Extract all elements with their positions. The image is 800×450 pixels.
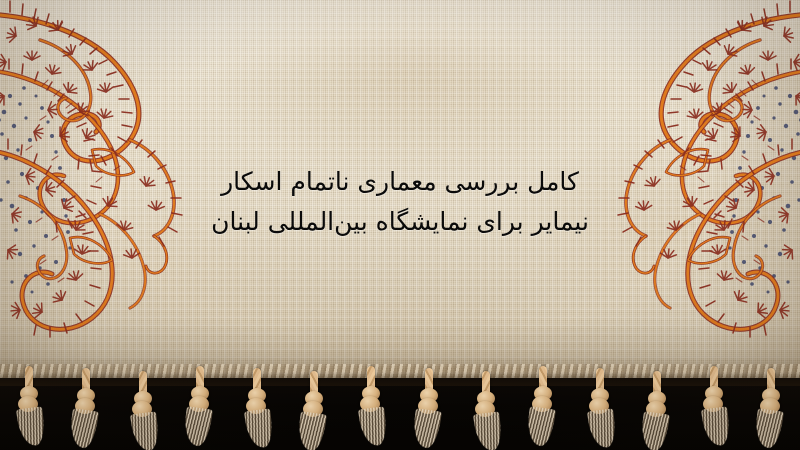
tassel xyxy=(530,366,556,446)
tassel xyxy=(130,371,156,450)
tassel-skirt xyxy=(473,411,503,450)
tassel-skirt xyxy=(587,408,617,449)
tassel-skirt xyxy=(16,406,46,447)
tassel xyxy=(244,368,270,448)
tassel-skirt xyxy=(130,411,160,450)
tassel xyxy=(358,366,384,446)
tassel-skirt xyxy=(296,411,327,450)
tassel xyxy=(701,366,727,446)
tassel xyxy=(416,368,442,448)
tassel-skirt xyxy=(525,406,556,447)
tassel xyxy=(473,371,499,450)
knotted-tassel-fringe xyxy=(0,366,800,450)
tassel xyxy=(187,366,213,446)
title-line-2: نیمایر برای نمایشگاه بین‌المللی لبنان xyxy=(0,202,800,242)
tassel-skirt xyxy=(68,408,99,449)
tassel-skirt xyxy=(244,408,274,449)
tassel-skirt xyxy=(753,408,784,449)
tassel-skirt xyxy=(639,411,670,450)
tassel-skirt xyxy=(359,406,389,447)
title-card: کامل بررسی معماری ناتمام اسکار نیمایر بر… xyxy=(0,0,800,450)
tassel xyxy=(16,366,42,446)
tassel xyxy=(587,368,613,448)
tassel xyxy=(644,371,670,450)
tassel-skirt xyxy=(410,408,441,449)
tassel-skirt xyxy=(182,406,213,447)
tassel xyxy=(758,368,784,448)
page-title: کامل بررسی معماری ناتمام اسکار نیمایر بر… xyxy=(0,162,800,242)
title-line-1: کامل بررسی معماری ناتمام اسکار xyxy=(0,162,800,202)
tassel xyxy=(73,368,99,448)
tassel-skirt xyxy=(701,406,731,447)
tassel xyxy=(301,371,327,450)
